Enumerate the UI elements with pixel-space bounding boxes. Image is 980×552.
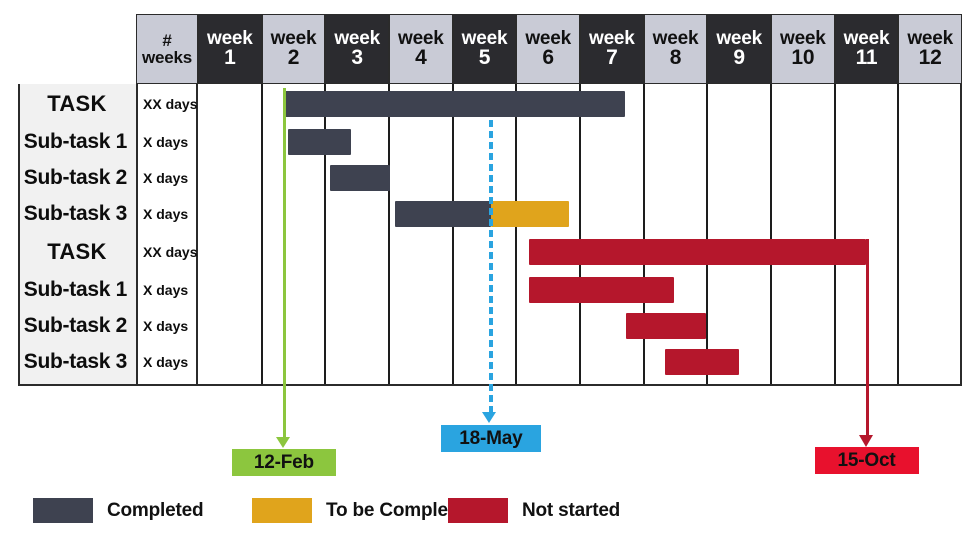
gantt-bar-completed[interactable] bbox=[330, 165, 390, 191]
row-duration-value: X days bbox=[136, 160, 198, 196]
week-header-number: 5 bbox=[462, 47, 508, 68]
subtask-row-label[interactable]: Sub-task 1 bbox=[18, 124, 136, 160]
legend-label: Completed bbox=[107, 500, 203, 522]
week-header-6[interactable]: week6 bbox=[516, 14, 580, 84]
legend-item[interactable]: Completed bbox=[33, 498, 203, 523]
row-duration-value: X days bbox=[136, 196, 198, 232]
gantt-bar-completed[interactable] bbox=[395, 201, 491, 227]
legend-swatch-icon bbox=[252, 498, 312, 523]
gantt-bar-not-started[interactable] bbox=[529, 277, 674, 303]
plot-area bbox=[198, 84, 962, 386]
gantt-bar-completed[interactable] bbox=[288, 129, 350, 155]
subtask-row-label[interactable]: Sub-task 1 bbox=[18, 272, 136, 308]
legend-label: Not started bbox=[522, 500, 620, 522]
week-header-12[interactable]: week12 bbox=[898, 14, 962, 84]
week-header-number: 10 bbox=[780, 47, 826, 68]
header-weeks-column: # weeks bbox=[136, 14, 198, 84]
milestone-callout-12-feb[interactable]: 12-Feb bbox=[232, 449, 336, 476]
gantt-bar-not-started[interactable] bbox=[529, 239, 866, 265]
row-duration-value: X days bbox=[136, 308, 198, 344]
week-header-number: 7 bbox=[589, 47, 635, 68]
week-header-number: 2 bbox=[271, 47, 317, 68]
week-header-number: 4 bbox=[398, 47, 444, 68]
subtask-row-label[interactable]: Sub-task 3 bbox=[18, 196, 136, 232]
task-row-label[interactable]: TASK bbox=[18, 84, 136, 124]
subtask-row-label[interactable]: Sub-task 3 bbox=[18, 344, 136, 380]
gantt-bar-not-started[interactable] bbox=[626, 313, 706, 339]
gantt-chart: # weeks week1week2week3week4week5week6we… bbox=[0, 0, 980, 552]
milestone-arrow-12-feb bbox=[276, 437, 290, 448]
week-header-number: 3 bbox=[334, 47, 380, 68]
gantt-bar-not-started[interactable] bbox=[665, 349, 739, 375]
week-header-4[interactable]: week4 bbox=[389, 14, 453, 84]
week-header-3[interactable]: week3 bbox=[325, 14, 389, 84]
header-weeks-line2: weeks bbox=[142, 49, 192, 66]
week-gridline bbox=[261, 84, 263, 386]
week-header-5[interactable]: week5 bbox=[453, 14, 517, 84]
legend-swatch-icon bbox=[448, 498, 508, 523]
milestone-arrow-15-oct bbox=[859, 435, 873, 447]
legend-item[interactable]: To be Completed bbox=[252, 498, 476, 523]
gantt-bar-to-be-completed[interactable] bbox=[491, 201, 569, 227]
row-duration-value: X days bbox=[136, 124, 198, 160]
legend-swatch-icon bbox=[33, 498, 93, 523]
gantt-bar-completed[interactable] bbox=[284, 91, 625, 117]
week-gridline bbox=[388, 84, 390, 386]
week-header-number: 1 bbox=[207, 47, 253, 68]
week-header-number: 6 bbox=[525, 47, 571, 68]
week-gridline bbox=[643, 84, 645, 386]
milestone-line-12-feb bbox=[283, 88, 286, 438]
week-header-number: 9 bbox=[716, 47, 762, 68]
week-header-7[interactable]: week7 bbox=[580, 14, 644, 84]
week-gridline bbox=[579, 84, 581, 386]
week-header-number: 8 bbox=[653, 47, 699, 68]
week-gridline bbox=[706, 84, 708, 386]
week-gridline bbox=[770, 84, 772, 386]
week-gridline bbox=[834, 84, 836, 386]
milestone-arrow-18-may bbox=[482, 412, 496, 423]
task-row-label[interactable]: TASK bbox=[18, 232, 136, 272]
week-gridline bbox=[515, 84, 517, 386]
milestone-line-15-oct bbox=[866, 239, 869, 436]
subtask-row-label[interactable]: Sub-task 2 bbox=[18, 160, 136, 196]
row-duration-value: XX days bbox=[136, 232, 198, 272]
week-header-number: 12 bbox=[907, 47, 953, 68]
header-weeks-line1: # bbox=[142, 32, 192, 49]
milestone-line-18-may bbox=[489, 120, 493, 413]
row-duration-value: X days bbox=[136, 272, 198, 308]
week-gridline bbox=[897, 84, 899, 386]
week-header-10[interactable]: week10 bbox=[771, 14, 835, 84]
row-duration-value: X days bbox=[136, 344, 198, 380]
week-header-2[interactable]: week2 bbox=[262, 14, 326, 84]
milestone-callout-15-oct[interactable]: 15-Oct bbox=[815, 447, 919, 474]
legend-item[interactable]: Not started bbox=[448, 498, 620, 523]
week-header-number: 11 bbox=[844, 47, 890, 68]
week-header-11[interactable]: week11 bbox=[835, 14, 899, 84]
week-header-8[interactable]: week8 bbox=[644, 14, 708, 84]
milestone-callout-18-may[interactable]: 18-May bbox=[441, 425, 541, 452]
week-header-9[interactable]: week9 bbox=[707, 14, 771, 84]
week-header-1[interactable]: week1 bbox=[198, 14, 262, 84]
subtask-row-label[interactable]: Sub-task 2 bbox=[18, 308, 136, 344]
week-gridline bbox=[452, 84, 454, 386]
row-duration-value: XX days bbox=[136, 84, 198, 124]
